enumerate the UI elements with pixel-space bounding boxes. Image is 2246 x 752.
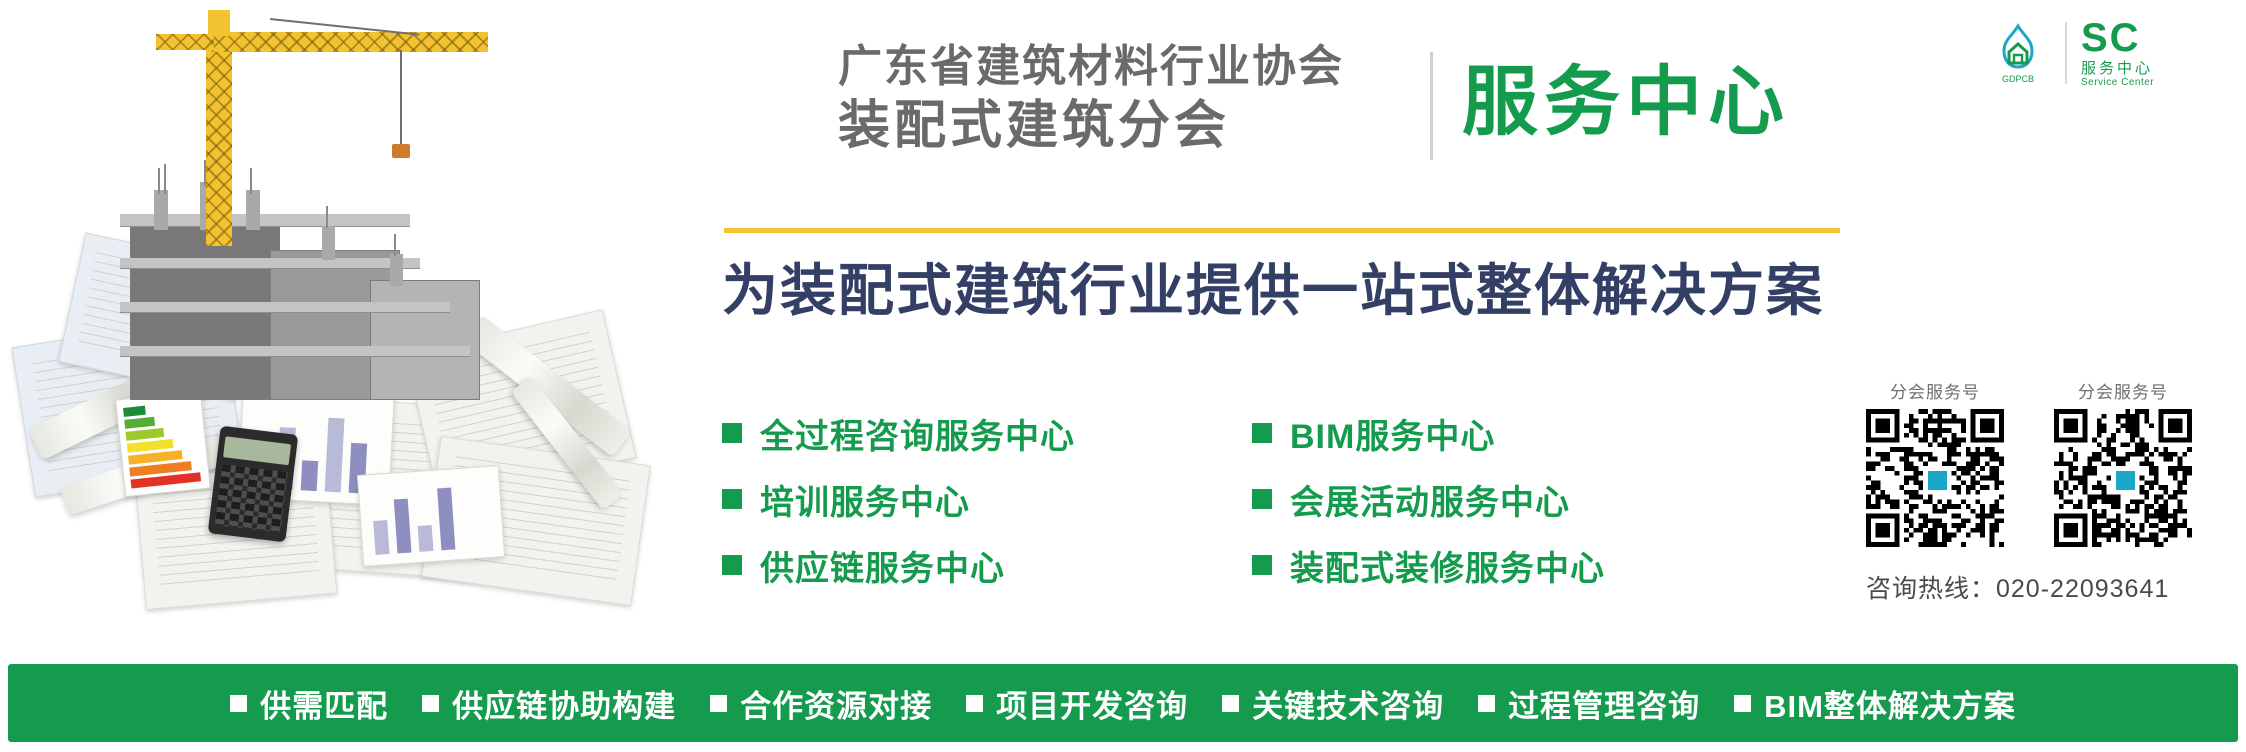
- bullet-square-icon: [1252, 555, 1272, 575]
- service-item-label: 装配式装修服务中心: [1290, 541, 1605, 590]
- chart-bar: [418, 525, 434, 552]
- services-row: 全过程咨询服务中心 培训服务中心 供应链服务中心 BIM服务中心: [722, 400, 1782, 598]
- service-item-label: BIM服务中心: [1290, 409, 1495, 458]
- brand-cn-label: 服务中心: [2081, 61, 2154, 76]
- service-item-label: 全过程咨询服务中心: [760, 409, 1075, 458]
- bullet-square-icon: [1478, 695, 1495, 712]
- building-column: [390, 254, 403, 286]
- footer-item-label: BIM整体解决方案: [1764, 681, 2016, 726]
- bullet-square-icon: [722, 423, 742, 443]
- qr-code-block: 分会服务号: [1866, 378, 2004, 547]
- service-item[interactable]: BIM服务中心: [1252, 400, 1782, 466]
- footer-item[interactable]: 供需匹配: [230, 681, 388, 726]
- floor-slab: [120, 258, 420, 268]
- banner-root: 广东省建筑材料行业协会 装配式建筑分会 服务中心 为装配式建筑行业提供一站式整体…: [0, 0, 2246, 752]
- tower-crane: [150, 10, 510, 250]
- hotline-text: 咨询热线：020-22093641: [1866, 569, 2196, 605]
- tagline: 为装配式建筑行业提供一站式整体解决方案: [722, 255, 1824, 327]
- service-item-label: 供应链服务中心: [760, 541, 1005, 590]
- service-item[interactable]: 供应链服务中心: [722, 532, 1252, 598]
- qr-code-image[interactable]: [1866, 409, 2004, 547]
- footer-item-label: 合作资源对接: [740, 681, 932, 726]
- footer-item[interactable]: 关键技术咨询: [1222, 681, 1444, 726]
- service-item[interactable]: 培训服务中心: [722, 466, 1252, 532]
- crane-cable: [400, 50, 402, 146]
- qr-code-block: 分会服务号: [2054, 378, 2192, 547]
- footer-item-label: 关键技术咨询: [1252, 681, 1444, 726]
- footer-item[interactable]: BIM整体解决方案: [1734, 681, 2016, 726]
- calculator: [208, 426, 299, 543]
- header-vertical-divider: [1430, 52, 1433, 160]
- qr-code-image[interactable]: [2054, 409, 2192, 547]
- bullet-square-icon: [722, 555, 742, 575]
- association-line-2: 装配式建筑分会: [838, 96, 1458, 156]
- footer-item[interactable]: 合作资源对接: [710, 681, 932, 726]
- footer-item[interactable]: 过程管理咨询: [1478, 681, 1700, 726]
- floor-slab: [120, 346, 470, 356]
- floor-slab: [120, 302, 450, 312]
- bullet-square-icon: [230, 695, 247, 712]
- footer-item-label: 供需匹配: [260, 681, 388, 726]
- footer-item-label: 过程管理咨询: [1508, 681, 1700, 726]
- gdpcb-mark-label: GDPCB: [2002, 74, 2034, 84]
- footer-item-label: 项目开发咨询: [996, 681, 1188, 726]
- hero-illustration: [0, 0, 700, 640]
- bullet-square-icon: [1222, 695, 1239, 712]
- calculator-screen: [223, 436, 291, 465]
- crane-counter-jib: [156, 34, 214, 50]
- crane-hook: [392, 144, 410, 158]
- brand-divider: [2065, 22, 2067, 84]
- service-item-label: 会展活动服务中心: [1290, 475, 1570, 524]
- association-name: 广东省建筑材料行业协会 装配式建筑分会: [838, 42, 1458, 156]
- crane-tower-top: [208, 10, 230, 36]
- footer-item[interactable]: 供应链协助构建: [422, 681, 676, 726]
- brand-en-label: Service Center: [2081, 78, 2154, 88]
- brand-wordmark: SC 服务中心 Service Center: [2081, 18, 2154, 88]
- chart-bar: [394, 499, 412, 554]
- bullet-square-icon: [966, 695, 983, 712]
- chart-card: [357, 465, 505, 567]
- bullet-square-icon: [1734, 695, 1751, 712]
- qr-caption: 分会服务号: [1866, 378, 2004, 403]
- yellow-divider-rule: [724, 228, 1840, 233]
- services-column-right: BIM服务中心 会展活动服务中心 装配式装修服务中心: [1252, 400, 1782, 598]
- gdpcb-logo-icon: GDPCB: [1985, 20, 2051, 86]
- contact-zone: 分会服务号 分会服务号 咨询热线：020-22093641: [1866, 378, 2196, 605]
- building-wing: [370, 280, 480, 400]
- services-column-left: 全过程咨询服务中心 培训服务中心 供应链服务中心: [722, 400, 1252, 598]
- bullet-square-icon: [1252, 423, 1272, 443]
- chart-bar: [437, 488, 455, 551]
- crane-mast: [206, 46, 232, 246]
- bullet-square-icon: [1252, 489, 1272, 509]
- service-item[interactable]: 会展活动服务中心: [1252, 466, 1782, 532]
- footer-item[interactable]: 项目开发咨询: [966, 681, 1188, 726]
- brand-logo: GDPCB SC 服务中心 Service Center: [1985, 18, 2154, 88]
- brand-abbr: SC: [2081, 18, 2154, 58]
- bullet-square-icon: [422, 695, 439, 712]
- bullet-square-icon: [722, 489, 742, 509]
- service-item[interactable]: 装配式装修服务中心: [1252, 532, 1782, 598]
- chart-bar: [373, 520, 389, 555]
- footer-bar: 供需匹配 供应链协助构建 合作资源对接 项目开发咨询 关键技术咨询 过程管理咨询…: [8, 664, 2238, 742]
- service-item-label: 培训服务中心: [760, 475, 970, 524]
- bullet-square-icon: [710, 695, 727, 712]
- association-line-1: 广东省建筑材料行业协会: [838, 42, 1458, 92]
- calculator-keys: [215, 464, 288, 533]
- service-item[interactable]: 全过程咨询服务中心: [722, 400, 1252, 466]
- service-center-title: 服务中心: [1462, 48, 1790, 158]
- qr-code-group: 分会服务号 分会服务号: [1866, 378, 2196, 547]
- footer-item-label: 供应链协助构建: [452, 681, 676, 726]
- chart-bar: [301, 460, 319, 491]
- qr-caption: 分会服务号: [2054, 378, 2192, 403]
- services-list: 全过程咨询服务中心 培训服务中心 供应链服务中心 BIM服务中心: [722, 400, 1782, 598]
- crane-jib: [212, 32, 488, 52]
